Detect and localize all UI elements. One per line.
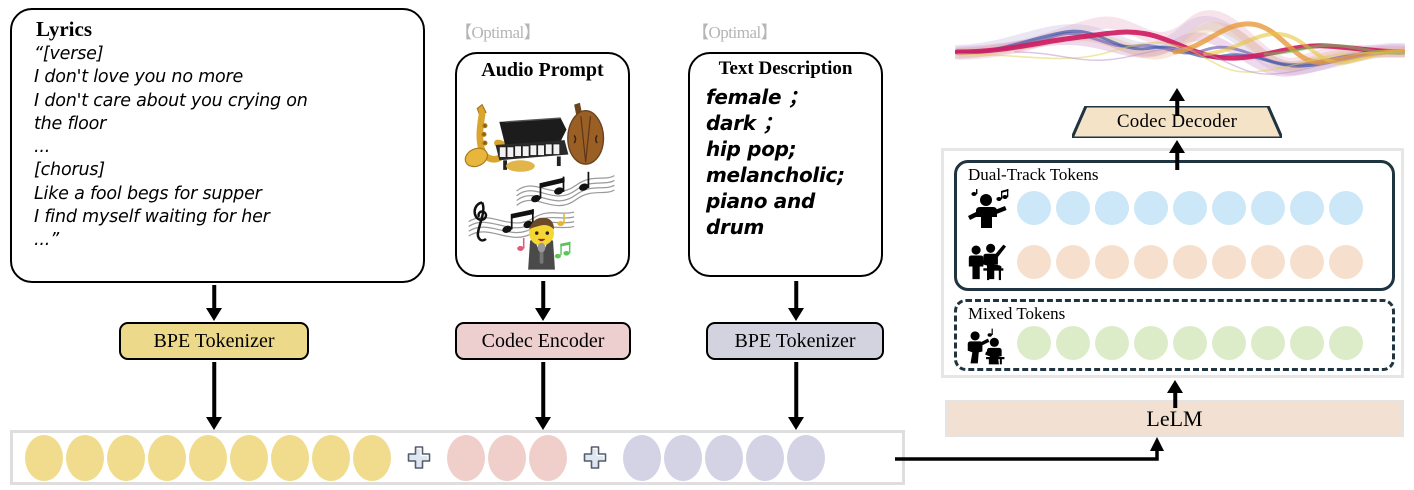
mixed-track-item	[1056, 326, 1090, 360]
mixed-tokens-box: Mixed Tokens	[954, 299, 1395, 371]
mixed-track-item	[1290, 326, 1324, 360]
lyrics-tokens-item	[189, 435, 227, 481]
accompaniment-token-row	[1017, 245, 1363, 279]
audio-prompt-artwork	[461, 86, 624, 271]
saxophone-icon	[462, 105, 504, 170]
mixed-track-item	[1212, 326, 1246, 360]
audio-prompt-panel: Audio Prompt	[455, 52, 630, 277]
singer-band-icon	[965, 326, 1009, 366]
text-tokens-item	[705, 435, 743, 481]
accompaniment-track-item	[1251, 245, 1285, 279]
output-tokens-container: Dual-Track Tokens	[941, 148, 1404, 378]
mixed-tokens-label: Mixed Tokens	[968, 304, 1065, 324]
text-tokens-item	[664, 435, 702, 481]
accompaniment-track-item	[1095, 245, 1129, 279]
lyrics-tokens-item	[107, 435, 145, 481]
lyrics-tokens-item	[230, 435, 268, 481]
vocal-track-item	[1251, 191, 1285, 225]
grand-piano-icon	[496, 118, 569, 172]
plus-icon	[406, 445, 432, 471]
vocal-track-item	[1056, 191, 1090, 225]
lyrics-tokens-item	[66, 435, 104, 481]
band-icon	[965, 241, 1009, 281]
audio-tokens-item	[447, 435, 485, 481]
lyrics-tokens-item	[271, 435, 309, 481]
input-token-sequence	[10, 430, 905, 485]
vocal-track-item	[1017, 191, 1051, 225]
output-waveform	[955, 2, 1405, 97]
mixed-track-item	[1095, 326, 1129, 360]
text-tokens-item	[746, 435, 784, 481]
vocal-token-row	[1017, 191, 1363, 225]
accompaniment-track-item	[1134, 245, 1168, 279]
accompaniment-track-item	[1017, 245, 1051, 279]
vocal-track-item	[1329, 191, 1363, 225]
mixed-track-item	[1251, 326, 1285, 360]
input-token-row	[25, 433, 825, 482]
plus-icon	[582, 445, 608, 471]
cello-icon	[568, 103, 604, 164]
connector-tokens-to-lelm	[895, 437, 1195, 467]
mixed-track-item	[1134, 326, 1168, 360]
accompaniment-track-item	[1212, 245, 1246, 279]
text-description-body: female ； dark ； hip pop; melancholic; pi…	[706, 84, 875, 240]
mixed-track-item	[1329, 326, 1363, 360]
singer-icon	[965, 189, 1009, 229]
text-description-panel: Text Description female ； dark ； hip pop…	[688, 52, 883, 277]
lyrics-tokens-item	[148, 435, 186, 481]
audio-tokens-item	[529, 435, 567, 481]
accompaniment-track-item	[1173, 245, 1207, 279]
audio-tokens-item	[488, 435, 526, 481]
mixed-token-row	[1017, 326, 1363, 360]
accompaniment-track-item	[1329, 245, 1363, 279]
bpe-tokenizer-text[interactable]: BPE Tokenizer	[706, 322, 884, 360]
lyrics-panel: Lyrics “[verse] I don't love you no more…	[10, 8, 425, 283]
lyrics-tokens-item	[312, 435, 350, 481]
vocal-track-item	[1095, 191, 1129, 225]
vocal-track-item	[1290, 191, 1324, 225]
text-tokens-item	[787, 435, 825, 481]
accompaniment-track-item	[1056, 245, 1090, 279]
mixed-track-item	[1017, 326, 1051, 360]
lyrics-tokens-item	[25, 435, 63, 481]
dual-track-tokens-box: Dual-Track Tokens	[954, 160, 1395, 291]
vocal-track-item	[1212, 191, 1246, 225]
vocal-track-item	[1173, 191, 1207, 225]
lyrics-tokens-item	[353, 435, 391, 481]
text-optional-tag: 【Optimal】	[692, 18, 777, 43]
accompaniment-track-item	[1290, 245, 1324, 279]
vocal-track-item	[1134, 191, 1168, 225]
bpe-tokenizer-lyrics[interactable]: BPE Tokenizer	[119, 322, 309, 360]
lyrics-title: Lyrics	[36, 18, 92, 40]
mixed-track-item	[1173, 326, 1207, 360]
dual-track-label: Dual-Track Tokens	[968, 165, 1099, 185]
audio-optional-tag: 【Optimal】	[455, 18, 540, 43]
codec-encoder[interactable]: Codec Encoder	[455, 322, 631, 360]
audio-prompt-title: Audio Prompt	[457, 60, 628, 81]
text-description-title: Text Description	[690, 59, 881, 79]
lyrics-text: “[verse] I don't love you no more I don'…	[34, 43, 411, 252]
text-tokens-item	[623, 435, 661, 481]
